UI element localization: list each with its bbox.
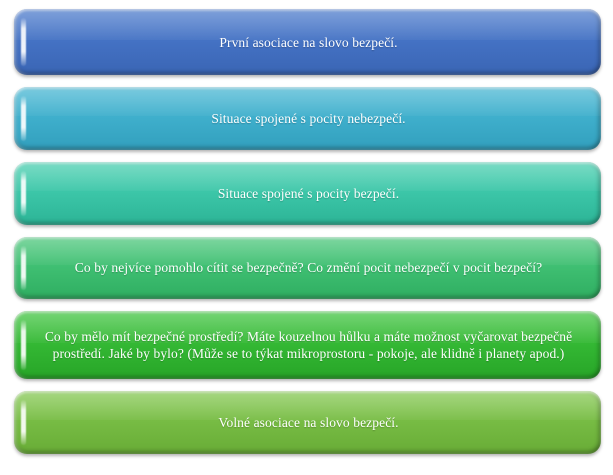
- flow-box-6[interactable]: Volné asociace na slovo bezpečí.: [14, 391, 601, 454]
- box-edge-highlight-icon: [21, 171, 26, 216]
- flow-box-2-label: Situace spojené s pocity nebezpečí.: [211, 110, 405, 127]
- box-edge-highlight-icon: [21, 18, 26, 66]
- flow-box-5-label: Co by mělo mít bezpečné prostředí? Máte …: [38, 328, 579, 362]
- box-edge-highlight-icon: [21, 320, 26, 370]
- flow-box-6-label: Volné asociace na slovo bezpečí.: [218, 414, 398, 431]
- box-edge-highlight-icon: [21, 96, 26, 141]
- flow-box-4-label: Co by nejvíce pomohlo cítit se bezpečně?…: [75, 259, 542, 276]
- flow-box-1-label: První asociace na slovo bezpečí.: [219, 34, 397, 51]
- flow-box-4[interactable]: Co by nejvíce pomohlo cítit se bezpečně?…: [14, 237, 601, 300]
- flow-box-2[interactable]: Situace spojené s pocity nebezpečí.: [14, 87, 601, 150]
- flow-box-3[interactable]: Situace spojené s pocity bezpečí.: [14, 162, 601, 225]
- box-edge-highlight-icon: [21, 246, 26, 291]
- flow-box-1[interactable]: První asociace na slovo bezpečí.: [14, 9, 601, 75]
- box-edge-highlight-icon: [21, 400, 26, 445]
- flow-diagram: První asociace na slovo bezpečí. Situace…: [0, 0, 613, 475]
- flow-box-3-label: Situace spojené s pocity bezpečí.: [218, 185, 399, 202]
- flow-box-5[interactable]: Co by mělo mít bezpečné prostředí? Máte …: [14, 311, 601, 379]
